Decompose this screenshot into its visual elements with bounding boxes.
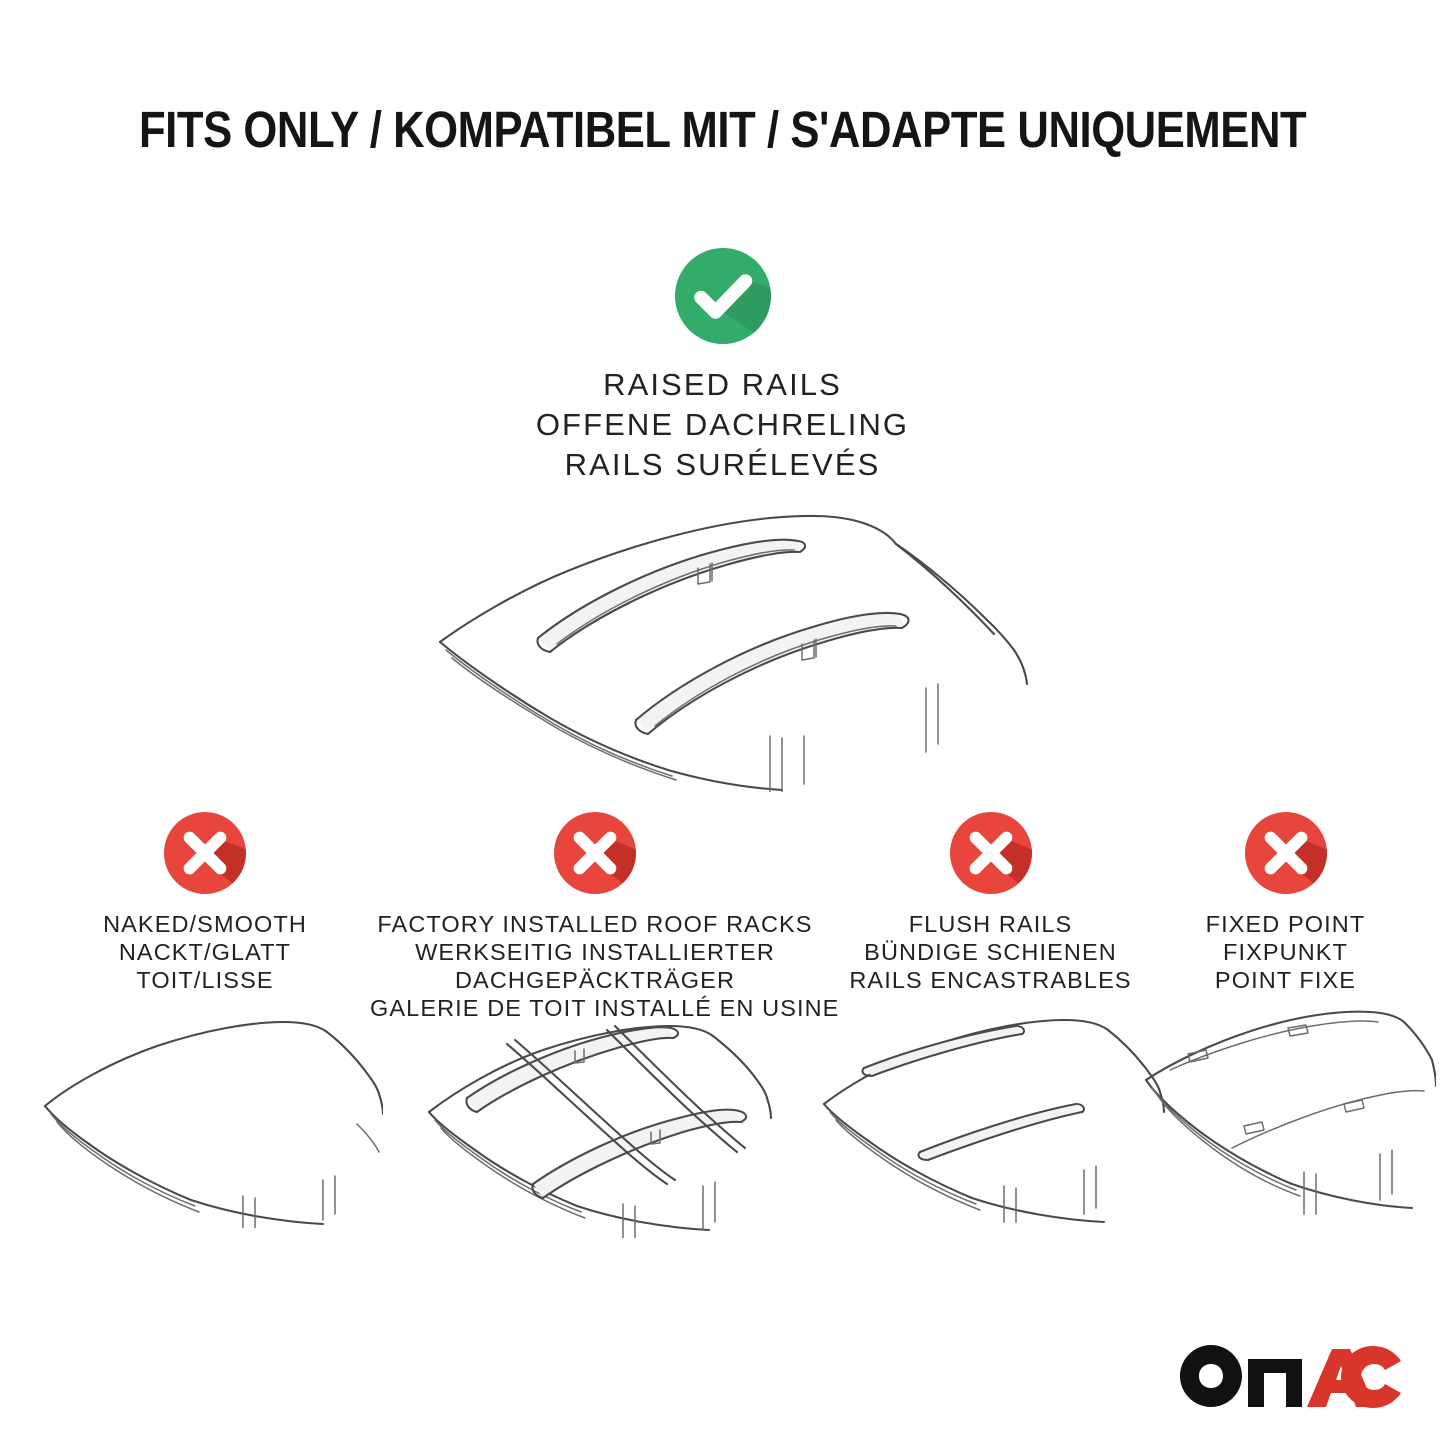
compatible-labels: RAISED RAILS OFFENE DACHRELING RAILS SUR… [0,365,1445,485]
car-roof-naked-illustration [27,1008,383,1233]
incompatible-labels: FIXED POINT FIXPUNKT POINT FIXE [1148,910,1423,994]
incompatible-item-naked-smooth: NAKED/SMOOTH NACKT/GLATT TOIT/LISSE [40,812,370,994]
compatible-label-de: OFFENE DACHRELING [0,405,1445,445]
car-roof-raised-rails-illustration [410,492,1030,792]
omac-logo [1178,1343,1403,1409]
compatible-label-fr: RAILS SURÉLEVÉS [0,445,1445,485]
label-de: NACKT/GLATT [40,938,370,966]
label-fr: RAILS ENCASTRABLES [838,966,1143,994]
x-circle-icon [1245,812,1327,894]
incompatible-item-flush-rails: FLUSH RAILS BÜNDIGE SCHIENEN RAILS ENCAS… [838,812,1143,994]
incompatible-item-factory-racks: FACTORY INSTALLED ROOF RACKS WERKSEITIG … [370,812,820,1022]
incompatible-item-fixed-point: FIXED POINT FIXPUNKT POINT FIXE [1148,812,1423,994]
label-en: FIXED POINT [1148,910,1423,938]
label-fr: TOIT/LISSE [40,966,370,994]
label-en: FLUSH RAILS [838,910,1143,938]
label-fr: POINT FIXE [1148,966,1423,994]
car-roof-flush-rails-illustration [808,1008,1174,1233]
x-circle-icon [164,812,246,894]
incompatible-labels: FACTORY INSTALLED ROOF RACKS WERKSEITIG … [370,910,820,1022]
car-roof-fixed-point-illustration [1136,1008,1436,1233]
compatible-label-en: RAISED RAILS [0,365,1445,405]
x-circle-icon [554,812,636,894]
label-de: BÜNDIGE SCHIENEN [838,938,1143,966]
label-de-1: WERKSEITIG INSTALLIERTER [370,938,820,966]
incompatible-labels: FLUSH RAILS BÜNDIGE SCHIENEN RAILS ENCAS… [838,910,1143,994]
incompatible-labels: NAKED/SMOOTH NACKT/GLATT TOIT/LISSE [40,910,370,994]
check-circle-icon [675,248,771,344]
label-de: FIXPUNKT [1148,938,1423,966]
label-en: FACTORY INSTALLED ROOF RACKS [370,910,820,938]
x-circle-icon [950,812,1032,894]
page-title: FITS ONLY / KOMPATIBEL MIT / S'ADAPTE UN… [0,104,1445,155]
label-en: NAKED/SMOOTH [40,910,370,938]
compatible-section: RAISED RAILS OFFENE DACHRELING RAILS SUR… [0,248,1445,485]
car-roof-factory-racks-illustration [411,1008,779,1243]
incompatible-section: NAKED/SMOOTH NACKT/GLATT TOIT/LISSE [0,812,1445,1242]
page-title-text: FITS ONLY / KOMPATIBEL MIT / S'ADAPTE UN… [139,104,1306,155]
label-de-2: DACHGEPÄCKTRÄGER [370,966,820,994]
